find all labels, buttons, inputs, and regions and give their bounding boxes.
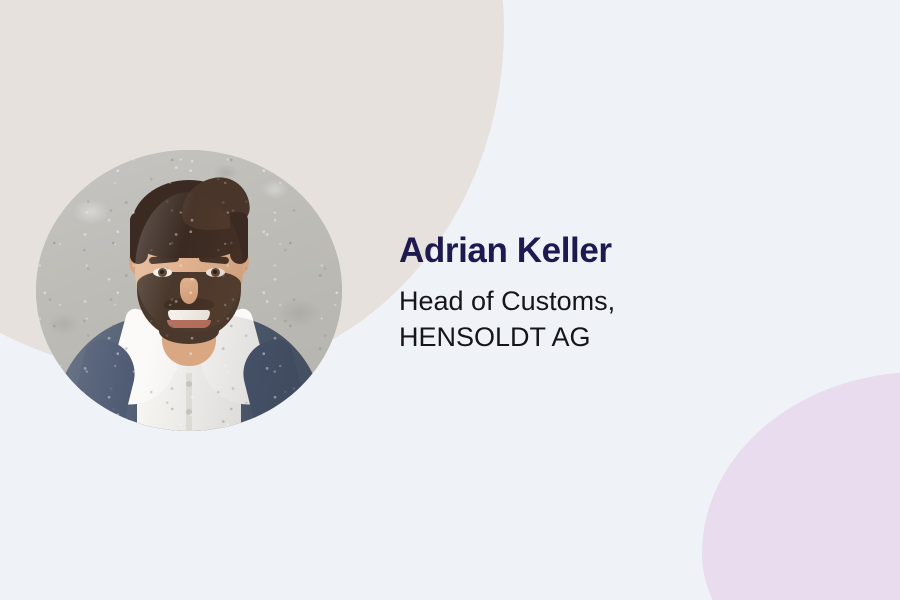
eye-left: [153, 268, 172, 277]
pink-decorative-blob: [702, 372, 900, 600]
ear-left: [129, 248, 144, 274]
chin-beard: [159, 318, 219, 344]
neck: [162, 300, 216, 366]
eye-right: [206, 268, 225, 277]
person-role: Head of Customs, HENSOLDT AG: [399, 284, 819, 356]
avatar-photo: [36, 150, 342, 431]
nose: [180, 278, 198, 304]
shirt-placket: [186, 373, 192, 431]
hair-side-right: [230, 212, 248, 264]
speaker-profile-card: Adrian Keller Head of Customs, HENSOLDT …: [0, 0, 900, 600]
hair: [131, 180, 247, 258]
hair-swoop: [178, 174, 253, 235]
iris-left: [158, 268, 167, 277]
neck-shading: [162, 300, 216, 340]
eyebrow-left: [149, 255, 179, 265]
shirt: [137, 329, 241, 431]
mouth-teeth: [168, 310, 210, 323]
face: [135, 192, 243, 332]
lower-lip: [167, 320, 211, 328]
beard: [137, 272, 241, 340]
avatar: [36, 150, 342, 431]
blazer-lapel-left: [66, 336, 142, 431]
iris-right: [211, 268, 220, 277]
speaker-text-block: Adrian Keller Head of Customs, HENSOLDT …: [399, 231, 819, 355]
ear-right: [234, 248, 249, 274]
blazer-shoulders: [55, 315, 323, 431]
face-shading: [135, 192, 243, 332]
eyebrow-right: [199, 255, 229, 265]
shirt-collar-right: [190, 307, 275, 416]
person-name: Adrian Keller: [399, 231, 819, 272]
shirt-button-lower: [186, 409, 192, 415]
shirt-collar-left: [104, 307, 189, 416]
moustache: [164, 298, 214, 310]
hair-side-left: [130, 212, 148, 264]
shirt-button-upper: [186, 381, 192, 387]
blazer-shading: [55, 315, 323, 431]
blazer-lapel-right: [236, 336, 312, 431]
